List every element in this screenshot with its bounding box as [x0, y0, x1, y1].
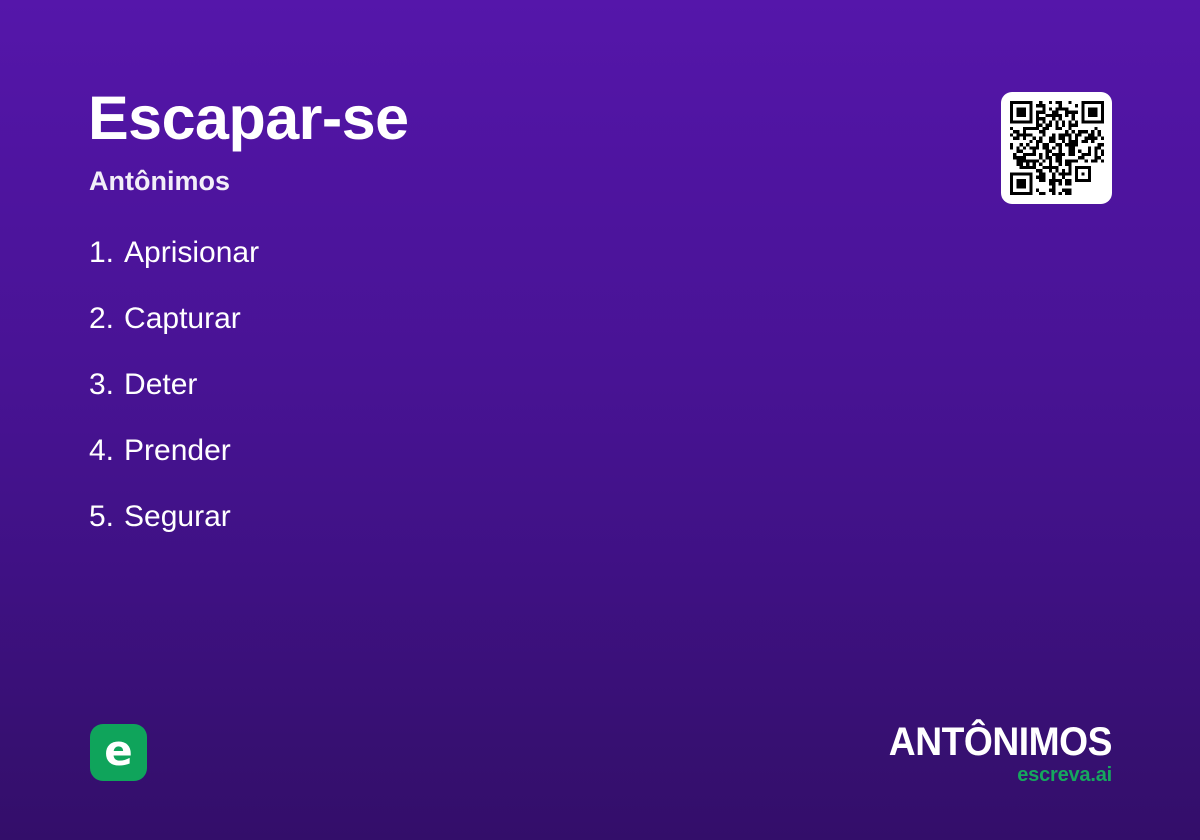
footer-logo: ANTÔNIMOS escreva.ai	[872, 722, 1112, 785]
list-item: 3. Deter	[89, 370, 869, 436]
list-item-label: Segurar	[124, 502, 231, 532]
list-item: 1. Aprisionar	[89, 238, 869, 304]
list-item-label: Prender	[124, 436, 231, 466]
page-title: Escapar-se	[88, 88, 409, 149]
list-item: 5. Segurar	[89, 502, 869, 568]
list-item-label: Aprisionar	[124, 238, 259, 268]
list-item-index: 2.	[89, 304, 114, 334]
antonym-list: 1. Aprisionar 2. Capturar 3. Deter 4. Pr…	[89, 238, 869, 568]
list-item-index: 5.	[89, 502, 114, 532]
list-item-index: 4.	[89, 436, 114, 466]
escreva-logo-icon[interactable]: e	[90, 724, 147, 781]
list-item: 4. Prender	[89, 436, 869, 502]
list-item-label: Capturar	[124, 304, 241, 334]
list-item-label: Deter	[124, 370, 197, 400]
brand-mark-letter: e	[104, 730, 133, 772]
footer-logo-subtitle: escreva.ai	[872, 765, 1112, 785]
list-item: 2. Capturar	[89, 304, 869, 370]
page-subtitle: Antônimos	[89, 168, 230, 195]
qr-code-card[interactable]	[1001, 92, 1112, 204]
list-item-index: 3.	[89, 370, 114, 400]
footer-logo-title: ANTÔNIMOS	[889, 722, 1112, 762]
list-item-index: 1.	[89, 238, 114, 268]
qr-code-icon	[1010, 101, 1104, 195]
